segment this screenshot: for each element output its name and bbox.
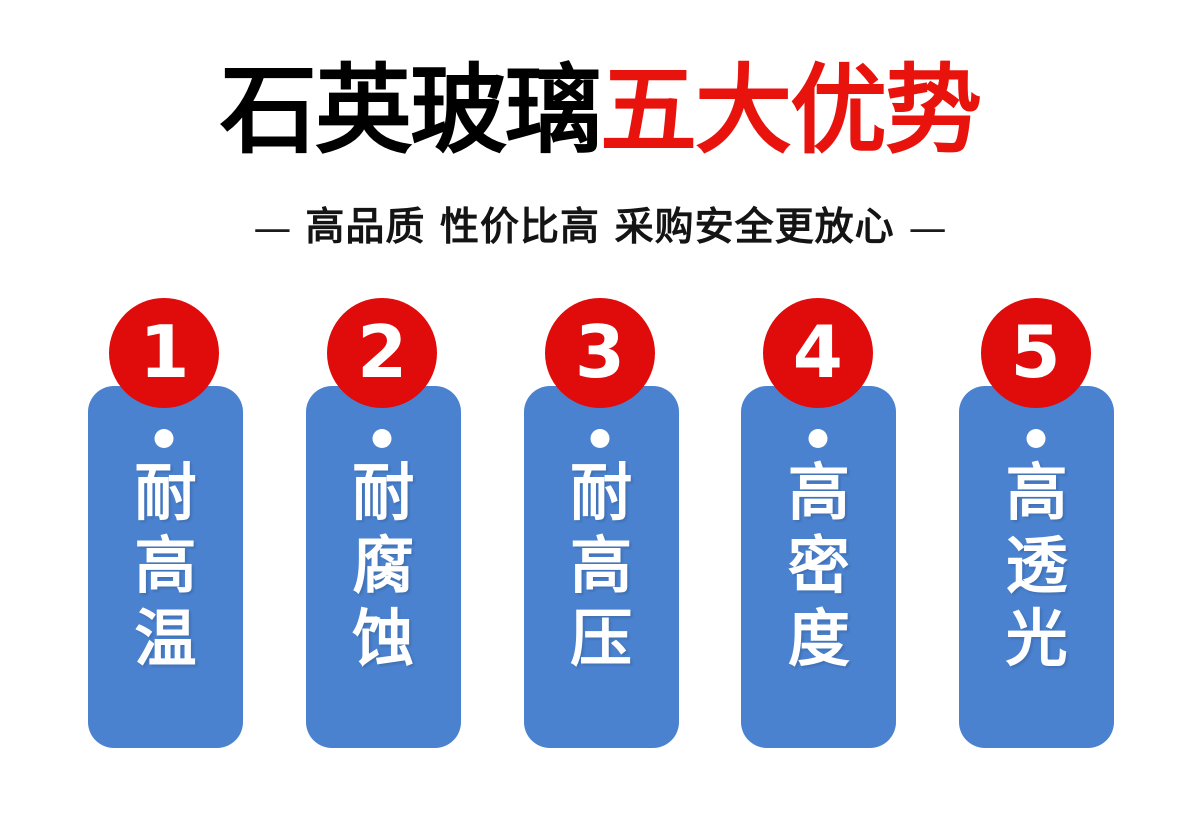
card-bullet-dot-icon — [1026, 429, 1045, 448]
card-label-char: 高 — [570, 534, 632, 597]
card-label-vertical: 耐 高 压 — [524, 461, 679, 671]
card-number-badge: 3 — [545, 298, 655, 408]
advantage-card[interactable]: 4 高 密 度 — [741, 298, 894, 748]
card-label-char: 耐 — [134, 461, 196, 524]
card-number-label: 4 — [793, 316, 843, 388]
card-number-badge: 4 — [763, 298, 873, 408]
card-label-vertical: 耐 高 温 — [88, 461, 243, 671]
card-number-badge: 1 — [109, 298, 219, 408]
advantage-card[interactable]: 5 高 透 光 — [959, 298, 1112, 748]
card-label-char: 高 — [134, 534, 196, 597]
card-label-char: 光 — [1006, 607, 1068, 670]
card-number-badge: 5 — [981, 298, 1091, 408]
card-bullet-dot-icon — [155, 429, 174, 448]
card-label-char: 耐 — [570, 461, 632, 524]
card-label-char: 腐 — [352, 534, 414, 597]
card-bullet-dot-icon — [808, 429, 827, 448]
advantage-card[interactable]: 1 耐 高 温 — [88, 298, 241, 748]
card-bullet-dot-icon — [590, 429, 609, 448]
page-subtitle: —高品质 性价比高 采购安全更放心— — [0, 208, 1200, 247]
page-title: 石英玻璃五大优势 — [0, 62, 1200, 159]
card-number-label: 5 — [1011, 316, 1061, 388]
card-number-label: 2 — [357, 316, 407, 388]
card-label-char: 蚀 — [352, 607, 414, 670]
card-label-char: 度 — [788, 607, 850, 670]
subtitle-dash-left: — — [253, 209, 291, 247]
advantage-card[interactable]: 3 耐 高 压 — [524, 298, 677, 748]
card-label-char: 高 — [788, 461, 850, 524]
card-label-char: 密 — [788, 534, 850, 597]
subtitle-dash-right: — — [909, 209, 947, 247]
title-primary-text: 石英玻璃 — [220, 62, 600, 159]
card-number-badge: 2 — [327, 298, 437, 408]
card-label-vertical: 高 密 度 — [741, 461, 896, 671]
advantage-card[interactable]: 2 耐 腐 蚀 — [306, 298, 459, 748]
title-accent-text: 五大优势 — [600, 62, 980, 159]
subtitle-text: 高品质 性价比高 采购安全更放心 — [291, 208, 908, 247]
card-label-char: 高 — [1006, 461, 1068, 524]
card-label-char: 温 — [134, 607, 196, 670]
card-label-vertical: 高 透 光 — [959, 461, 1114, 671]
card-label-char: 耐 — [352, 461, 414, 524]
card-bullet-dot-icon — [373, 429, 392, 448]
card-label-char: 透 — [1006, 534, 1068, 597]
advantage-card-list: 1 耐 高 温 2 耐 腐 蚀 3 — [88, 298, 1112, 750]
poster-canvas: 石英玻璃五大优势 —高品质 性价比高 采购安全更放心— 1 耐 高 温 2 — [0, 0, 1200, 829]
card-number-label: 1 — [139, 316, 189, 388]
card-number-label: 3 — [575, 316, 625, 388]
card-label-vertical: 耐 腐 蚀 — [306, 461, 461, 671]
card-label-char: 压 — [570, 607, 632, 670]
